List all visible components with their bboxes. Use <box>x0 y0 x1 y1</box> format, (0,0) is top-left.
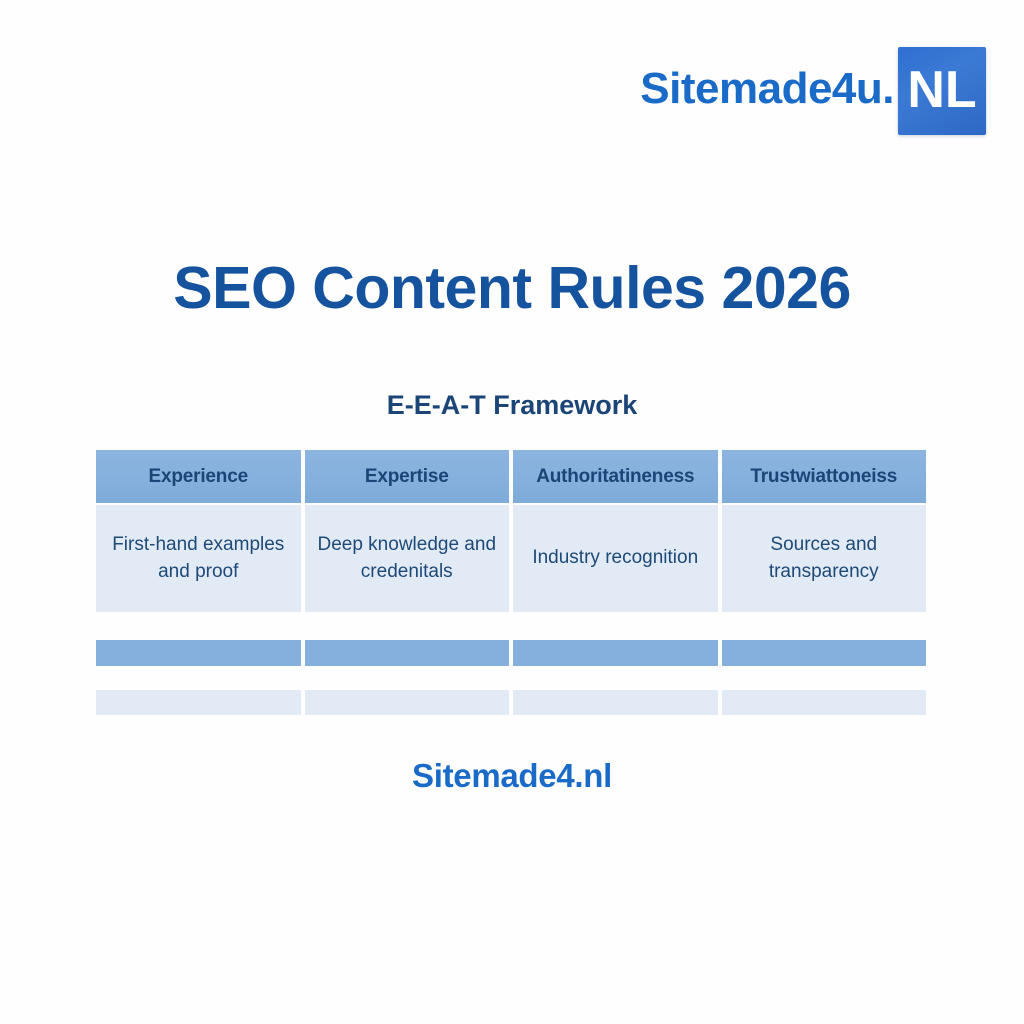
eeat-table: Experience Expertise Authoritatineness T… <box>96 450 926 715</box>
footer-site-url[interactable]: Sitemade4.nl <box>0 757 1024 795</box>
table-cell-empty <box>513 640 718 666</box>
table-cell-trustworthiness-desc: Sources and transparency <box>722 505 927 612</box>
table-cell-expertise-desc: Deep knowledge and credenitals <box>305 505 510 612</box>
table-cell-experience-desc: First-hand examples and proof <box>96 505 301 612</box>
table-header-cell-trustworthiness: Trustwiattoneiss <box>722 450 927 503</box>
poster-canvas: Sitemade4u. NL SEO Content Rules 2026 E-… <box>0 0 1024 1024</box>
table-cell-empty <box>722 640 927 666</box>
table-cell-empty <box>305 690 510 715</box>
table-cell-empty <box>513 690 718 715</box>
table-row <box>96 640 926 666</box>
page-subtitle: E-E-A-T Framework <box>0 390 1024 421</box>
table-cell-empty <box>96 690 301 715</box>
nl-badge-label: NL <box>907 64 976 118</box>
table-cell-empty <box>96 640 301 666</box>
table-header-cell-expertise: Expertise <box>305 450 510 503</box>
brand-logo[interactable]: Sitemade4u. NL <box>640 45 986 137</box>
table-header-cell-experience: Experience <box>96 450 301 503</box>
table-header-row: Experience Expertise Authoritatineness T… <box>96 450 926 503</box>
page-title: SEO Content Rules 2026 <box>0 258 1024 320</box>
brand-name: Sitemade4u. <box>640 67 894 115</box>
table-cell-empty <box>722 690 927 715</box>
table-row <box>96 690 926 715</box>
nl-badge-icon: NL <box>898 47 986 135</box>
table-cell-authoritativeness-desc: Industry recognition <box>513 505 718 612</box>
table-cell-empty <box>305 640 510 666</box>
table-header-cell-authoritativeness: Authoritatineness <box>513 450 718 503</box>
table-row: First-hand examples and proof Deep knowl… <box>96 505 926 612</box>
